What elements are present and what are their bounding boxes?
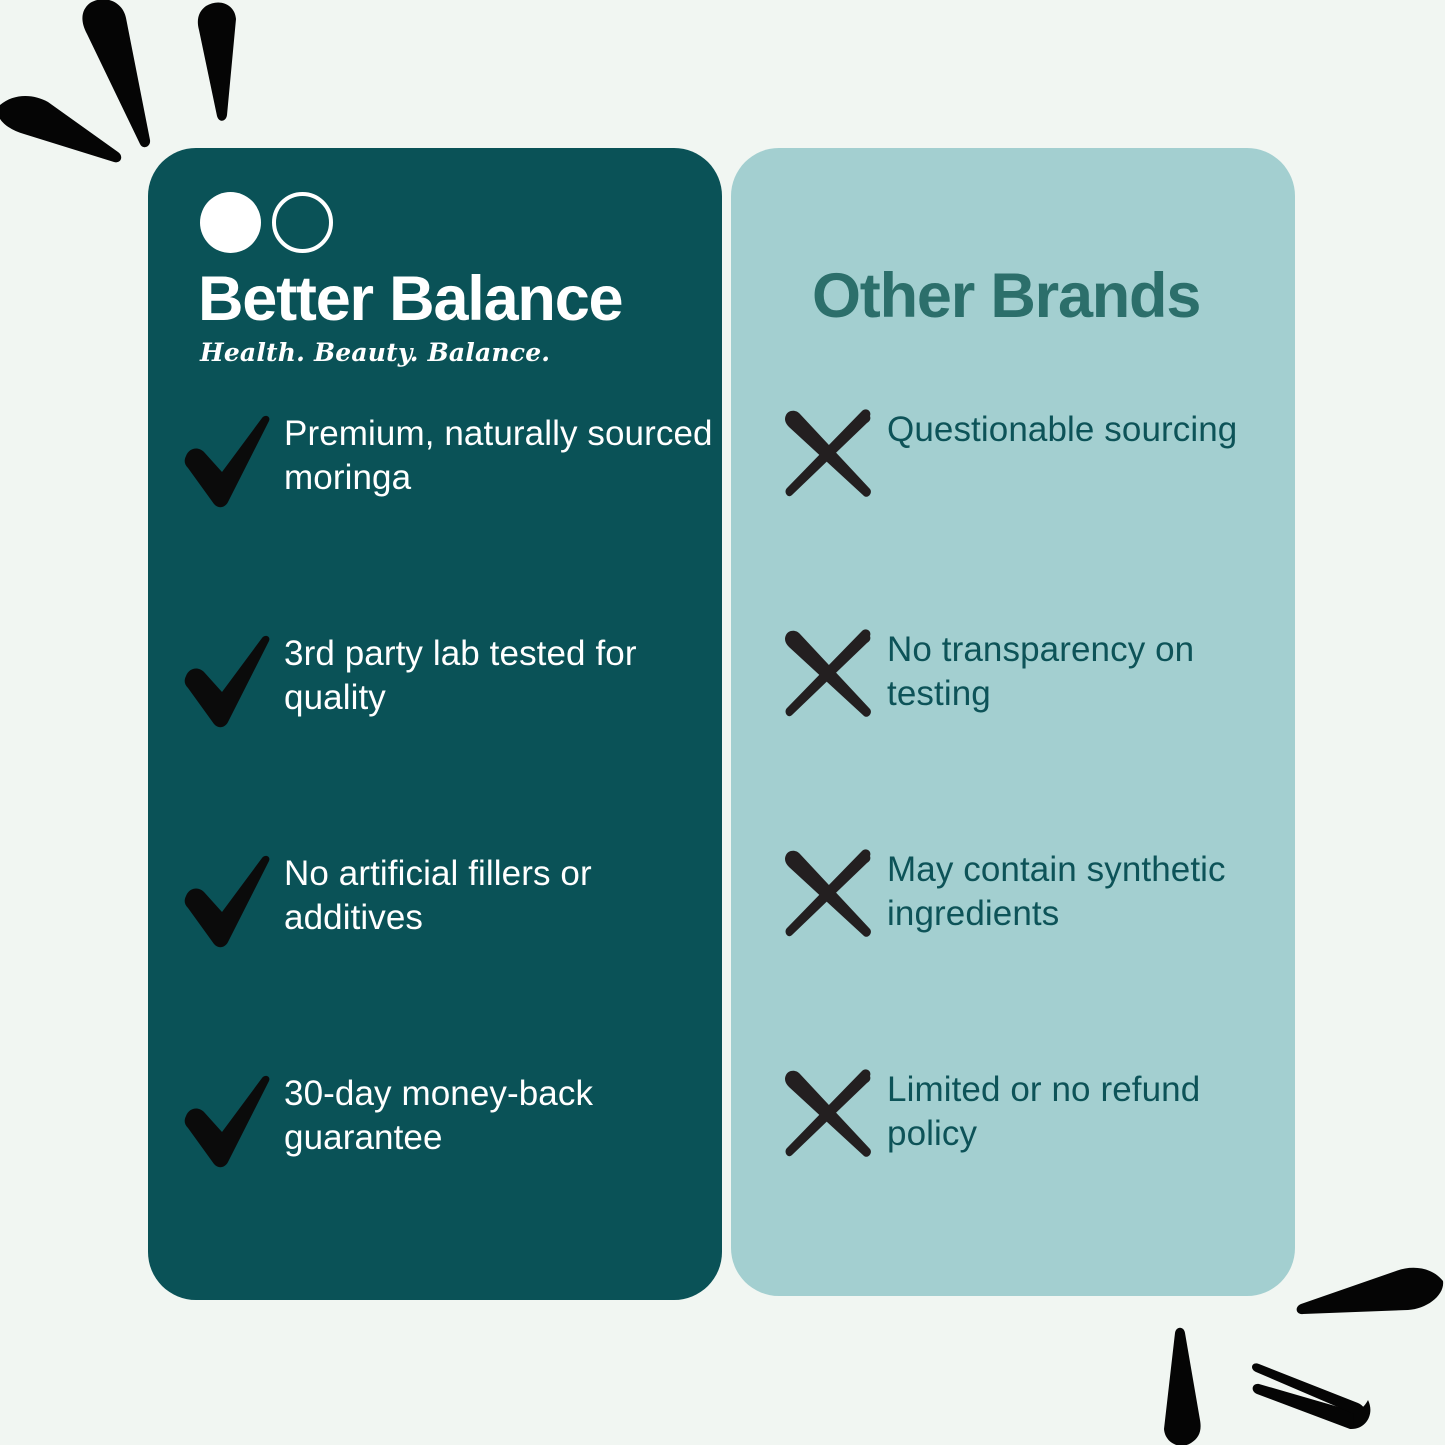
list-item: No transparency on testing (769, 626, 1295, 846)
benefits-list: Premium, naturally sourced moringa 3rd p… (176, 410, 722, 1290)
brand-logo (200, 192, 333, 253)
cross-mark-icon (769, 406, 887, 502)
list-item-label: 3rd party lab tested for quality (284, 630, 722, 720)
list-item-label: No transparency on testing (887, 626, 1295, 716)
list-item-label: Questionable sourcing (887, 406, 1295, 452)
list-item: May contain synthetic ingredients (769, 846, 1295, 1066)
list-item: 3rd party lab tested for quality (176, 630, 722, 850)
other-brands-card: Other Brands Questionable sourcing (731, 148, 1295, 1296)
list-item: 30-day money-back guarantee (176, 1070, 722, 1290)
cross-mark-icon (769, 1066, 887, 1162)
brand-title: Better Balance (198, 266, 622, 332)
list-item-label: No artificial fillers or additives (284, 850, 722, 940)
cross-mark-icon (769, 846, 887, 942)
circle-filled-icon (200, 192, 261, 253)
circle-outline-icon (272, 192, 333, 253)
list-item: Questionable sourcing (769, 406, 1295, 626)
other-brands-title: Other Brands (812, 263, 1200, 329)
cross-mark-icon (769, 626, 887, 722)
brand-tagline: Health. Beauty. Balance. (200, 338, 550, 367)
list-item-label: Premium, naturally sourced moringa (284, 410, 722, 500)
list-item: Premium, naturally sourced moringa (176, 410, 722, 630)
check-mark-icon (176, 410, 284, 514)
list-item-label: 30-day money-back guarantee (284, 1070, 722, 1160)
check-mark-icon (176, 630, 284, 734)
list-item: No artificial fillers or additives (176, 850, 722, 1070)
check-mark-icon (176, 1070, 284, 1174)
check-mark-icon (176, 850, 284, 954)
drawbacks-list: Questionable sourcing No transparency on… (769, 406, 1295, 1286)
list-item: Limited or no refund policy (769, 1066, 1295, 1286)
comparison-graphic: Better Balance Health. Beauty. Balance. … (0, 0, 1445, 1445)
better-balance-card: Better Balance Health. Beauty. Balance. … (148, 148, 722, 1300)
list-item-label: Limited or no refund policy (887, 1066, 1295, 1156)
list-item-label: May contain synthetic ingredients (887, 846, 1295, 936)
